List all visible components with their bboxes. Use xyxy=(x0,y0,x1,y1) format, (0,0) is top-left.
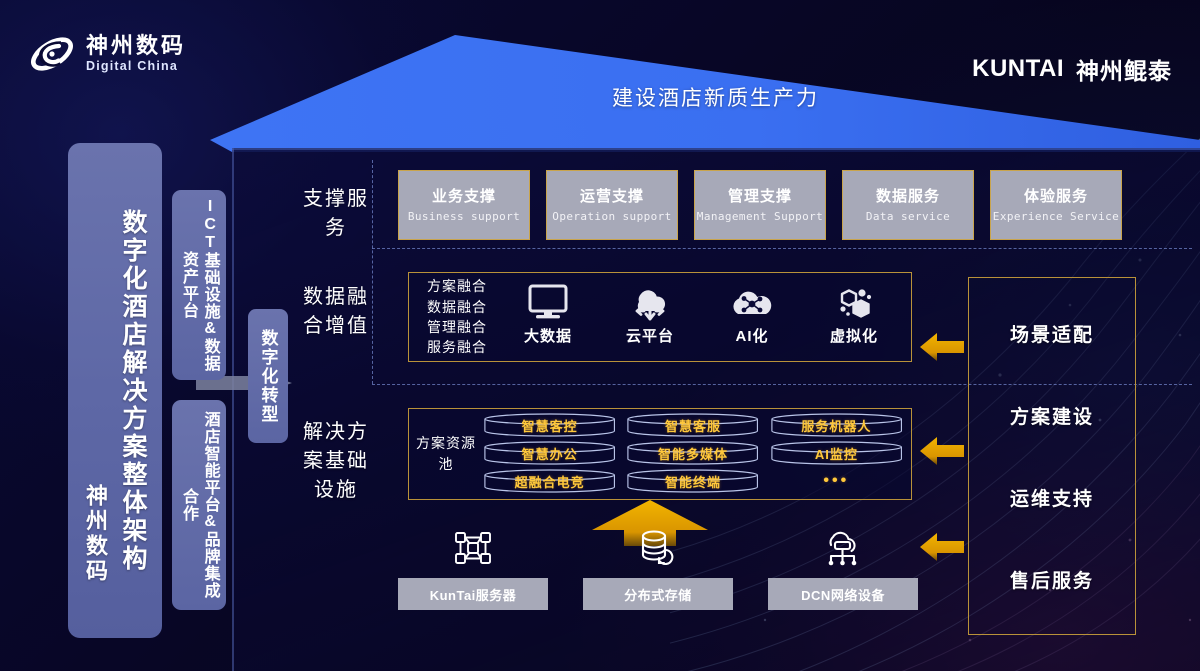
row-label-support: 支撑服务 xyxy=(298,185,374,243)
pool-item-label: ••• xyxy=(823,472,849,490)
support-service-row: 业务支撑 Business support 运营支撑 Operation sup… xyxy=(398,170,1122,240)
pool-item-label: 智慧客控 xyxy=(522,416,578,435)
row-separator-1 xyxy=(372,248,1192,249)
infrastructure-row: KunTai服务器 分布式存储 xyxy=(398,528,918,610)
panel-digital-transformation[interactable]: 数字化转型 xyxy=(248,309,288,443)
digital-china-logo: 神州数码 Digital China xyxy=(28,30,186,78)
support-card-en: Business support xyxy=(408,210,520,225)
kuntai-logo: KUNTAI 神州鲲泰 xyxy=(972,52,1172,86)
support-card-en: Experience Service xyxy=(993,210,1119,225)
support-card-cn: 体验服务 xyxy=(1024,185,1088,206)
data-fusion-box: 方案融合 数据融合 管理融合 服务融合 大数据 xyxy=(408,272,912,362)
pool-item[interactable]: 智慧办公 xyxy=(483,441,616,465)
fusion-item-label: 大数据 xyxy=(524,325,572,346)
fusion-item-virtualization[interactable]: 虚拟化 xyxy=(812,284,896,346)
pool-item-label: AI监控 xyxy=(815,444,858,463)
support-card[interactable]: 管理支撑 Management Support xyxy=(694,170,826,240)
fusion-item-ai[interactable]: AI化 xyxy=(710,284,794,346)
pool-label: 方案资源池 xyxy=(409,433,483,475)
service-item-ops-support[interactable]: 运维支持 xyxy=(1010,484,1094,511)
infra-item-storage[interactable]: 分布式存储 xyxy=(583,528,733,610)
support-card[interactable]: 数据服务 Data service xyxy=(842,170,974,240)
kuntai-cn-text: 神州鲲泰 xyxy=(1076,52,1172,86)
architecture-title-sub: 神州数码 xyxy=(79,484,111,584)
infra-label: KunTai服务器 xyxy=(398,578,548,610)
panel-ict-label: ICT基础设施&数据资产平台 xyxy=(177,198,220,372)
pool-item[interactable]: 服务机器人 xyxy=(770,413,903,437)
pool-item-label: 超融合电竞 xyxy=(515,472,585,491)
infra-item-network[interactable]: DCN网络设备 xyxy=(768,528,918,610)
pool-item[interactable]: 超融合电竞 xyxy=(483,469,616,493)
architecture-title-panel: 数字化酒店解决方案整体架构 神州数码 xyxy=(68,143,162,638)
pool-item[interactable]: 智慧客服 xyxy=(626,413,759,437)
support-card-cn: 运营支撑 xyxy=(580,185,644,206)
cloud-ai-network-icon xyxy=(729,284,775,322)
gold-left-arrow-icon xyxy=(920,333,964,361)
slide-canvas: 建设酒店新质生产力 神州数码 Digital China KUNTAI 神州鲲泰… xyxy=(0,0,1200,671)
roof-title: 建设酒店新质生产力 xyxy=(612,82,819,112)
gold-left-arrow-icon xyxy=(920,437,964,465)
pool-grid: 智慧客控 智慧客服 服务机器人 智慧办公 智能多媒体 AI监控 超融合电竞 智能… xyxy=(483,413,911,495)
panel-transform-label: 数字化转型 xyxy=(256,329,281,424)
pool-item[interactable]: 智慧客控 xyxy=(483,413,616,437)
support-card-en: Data service xyxy=(866,210,950,225)
service-item-solution-build[interactable]: 方案建设 xyxy=(1010,402,1094,429)
service-item-after-sales[interactable]: 售后服务 xyxy=(1010,566,1094,593)
panel-hotel-platform[interactable]: 酒店智能平台&品牌集成合作 xyxy=(172,400,226,610)
support-card[interactable]: 体验服务 Experience Service xyxy=(990,170,1122,240)
pool-item[interactable]: AI监控 xyxy=(770,441,903,465)
fusion-item-label: 云平台 xyxy=(626,325,674,346)
logo-en-text: Digital China xyxy=(86,58,186,74)
gold-left-arrow-icon xyxy=(920,533,964,561)
logo-cn-text: 神州数码 xyxy=(86,34,186,58)
fusion-item-bigdata[interactable]: 大数据 xyxy=(506,284,590,346)
digital-china-swirl-icon xyxy=(28,30,76,78)
infra-label: 分布式存储 xyxy=(583,578,733,610)
support-card-cn: 业务支撑 xyxy=(432,185,496,206)
support-card-en: Operation support xyxy=(552,210,671,225)
service-lifecycle-column: 场景适配 方案建设 运维支持 售后服务 xyxy=(968,277,1136,635)
cloud-network-icon xyxy=(820,528,866,568)
pool-item-more[interactable]: ••• xyxy=(770,469,903,493)
pool-item-label: 智慧办公 xyxy=(522,444,578,463)
fusion-item-label: 虚拟化 xyxy=(830,325,878,346)
database-storage-icon xyxy=(637,528,679,568)
panel-ict-infrastructure[interactable]: ICT基础设施&数据资产平台 xyxy=(172,190,226,380)
fusion-merge-item: 数据融合 xyxy=(427,297,487,317)
cloud-transfer-icon xyxy=(628,284,672,322)
fusion-icon-group: 大数据 云平台 xyxy=(487,284,911,350)
solution-resource-pool-box: 方案资源池 智慧客控 智慧客服 服务机器人 智慧办公 智能多媒体 AI监控 超融… xyxy=(408,408,912,500)
fusion-item-label: AI化 xyxy=(735,325,768,346)
infra-item-server[interactable]: KunTai服务器 xyxy=(398,528,548,610)
support-card-en: Management Support xyxy=(697,210,823,225)
pool-item[interactable]: 智能终端 xyxy=(626,469,759,493)
kuntai-en-text: KUNTAI xyxy=(972,55,1064,83)
service-item-scenario[interactable]: 场景适配 xyxy=(1010,320,1094,347)
fusion-merge-item: 服务融合 xyxy=(427,337,487,357)
pool-item[interactable]: 智能多媒体 xyxy=(626,441,759,465)
monitor-icon xyxy=(527,284,569,322)
architecture-title-main: 数字化酒店解决方案整体架构 xyxy=(115,209,151,573)
fusion-merge-list: 方案融合 数据融合 管理融合 服务融合 xyxy=(427,276,487,357)
pool-item-label: 服务机器人 xyxy=(801,416,871,435)
row-label-fusion: 数据融合增值 xyxy=(298,283,374,341)
panel-hotel-label: 酒店智能平台&品牌集成合作 xyxy=(177,408,220,602)
server-nodes-icon xyxy=(451,528,495,568)
pool-item-label: 智慧客服 xyxy=(665,416,721,435)
fusion-merge-item: 方案融合 xyxy=(427,276,487,296)
infra-label: DCN网络设备 xyxy=(768,578,918,610)
fusion-item-cloud[interactable]: 云平台 xyxy=(608,284,692,346)
support-card-cn: 数据服务 xyxy=(876,185,940,206)
support-card[interactable]: 业务支撑 Business support xyxy=(398,170,530,240)
cubes-virtualization-icon xyxy=(832,284,876,322)
fusion-merge-item: 管理融合 xyxy=(427,317,487,337)
pool-item-label: 智能终端 xyxy=(665,472,721,491)
support-card-cn: 管理支撑 xyxy=(728,185,792,206)
support-card[interactable]: 运营支撑 Operation support xyxy=(546,170,678,240)
row-label-solution: 解决方案基础设施 xyxy=(298,418,374,505)
pool-item-label: 智能多媒体 xyxy=(658,444,728,463)
